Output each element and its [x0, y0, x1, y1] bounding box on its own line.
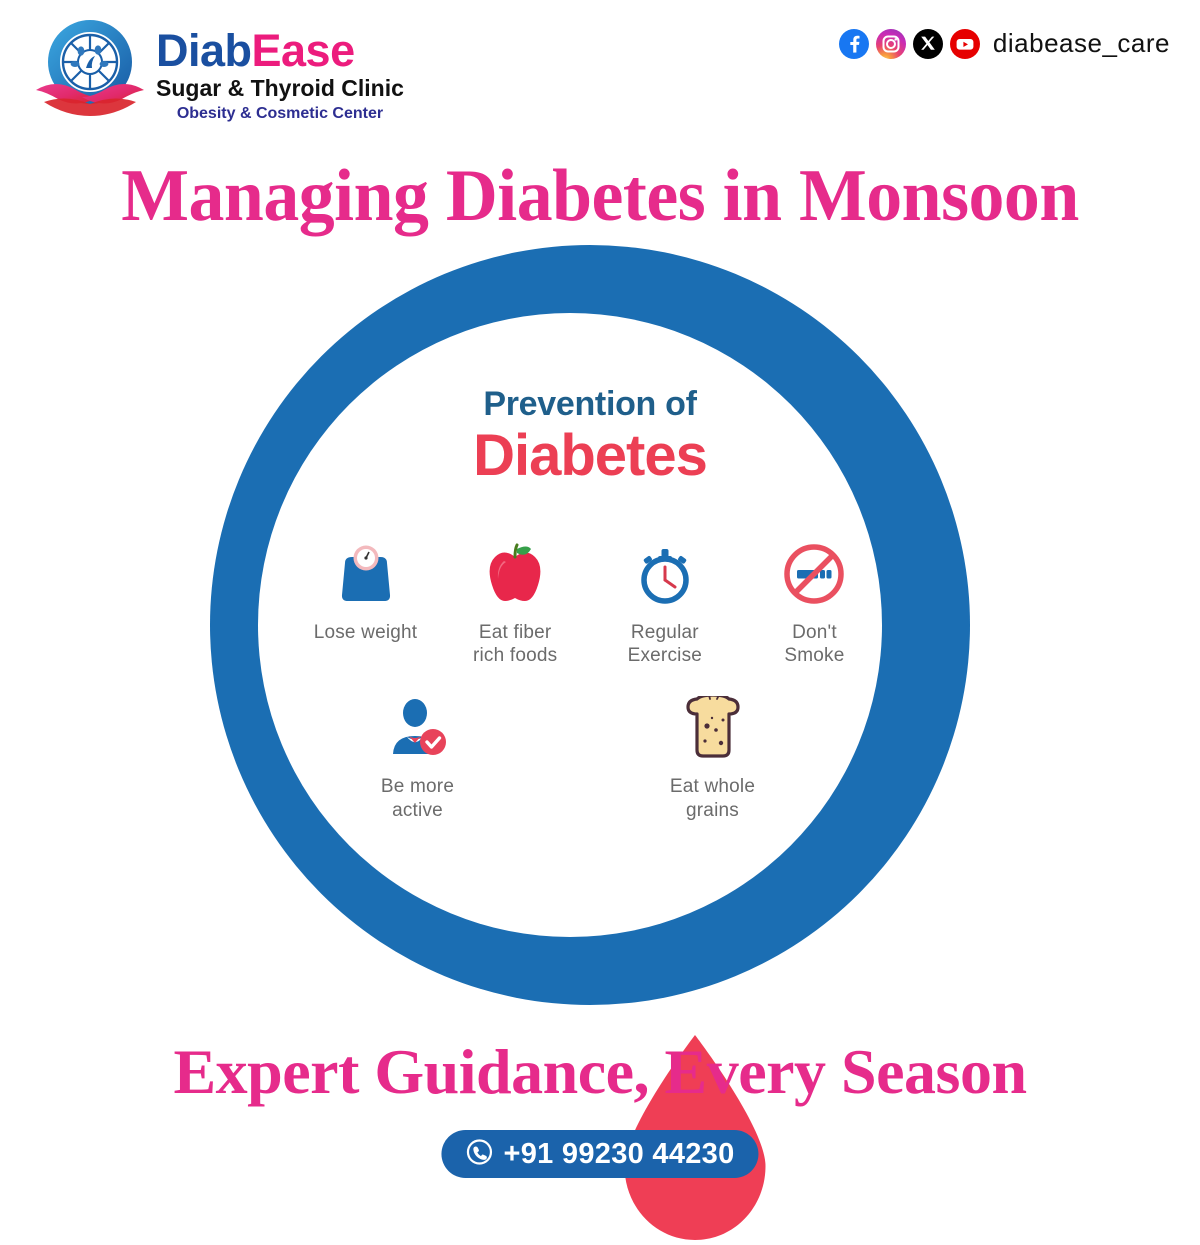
- tip-eat-whole-grains: Eat whole grains: [645, 689, 780, 821]
- phone-cta[interactable]: +91 99230 44230: [441, 1130, 758, 1178]
- brand-subtitle-secondary: Obesity & Cosmetic Center: [156, 106, 404, 122]
- brand-lockup: DiabEase Sugar & Thyroid Clinic Obesity …: [34, 18, 404, 122]
- brand-text: DiabEase Sugar & Thyroid Clinic Obesity …: [156, 18, 404, 122]
- tip-dont-smoke: Don't Smoke: [747, 535, 882, 667]
- youtube-icon[interactable]: [950, 29, 980, 59]
- tip-label: Be more active: [350, 775, 485, 821]
- phone-in-circle-icon: [465, 1138, 493, 1171]
- stopwatch-icon: [597, 535, 732, 613]
- x-twitter-icon[interactable]: [913, 29, 943, 59]
- tip-regular-exercise: Regular Exercise: [597, 535, 732, 667]
- infographic-title-line1: Prevention of: [473, 387, 707, 421]
- apple-icon: [448, 535, 583, 613]
- tip-label: Regular Exercise: [597, 621, 732, 667]
- page-title: Managing Diabetes in Monsoon: [18, 154, 1182, 239]
- page-header: DiabEase Sugar & Thyroid Clinic Obesity …: [0, 0, 1200, 140]
- tips-row-2: Be more active: [290, 689, 890, 821]
- brand-subtitle-primary: Sugar & Thyroid Clinic: [156, 77, 404, 100]
- page-tagline: Expert Guidance, Every Season: [0, 1035, 1200, 1109]
- infographic-content: Prevention of Diabetes Lose weight: [278, 313, 902, 937]
- brand-name-part1: Diab: [156, 25, 252, 76]
- person-check-icon: [350, 689, 485, 767]
- tip-label: Eat whole grains: [645, 775, 780, 821]
- social-handle[interactable]: diabease_care: [993, 28, 1170, 59]
- brand-name: DiabEase: [156, 28, 404, 73]
- bread-slice-icon: [645, 689, 780, 767]
- tips-row-1: Lose weight Eat fiber rich foods: [290, 535, 890, 667]
- phone-number: +91 99230 44230: [503, 1138, 734, 1171]
- brand-name-part2: Ease: [252, 25, 355, 76]
- social-links: diabease_care: [839, 28, 1170, 59]
- facebook-icon[interactable]: [839, 29, 869, 59]
- tip-label: Lose weight: [298, 621, 433, 644]
- infographic-title-line2: Diabetes: [473, 427, 707, 485]
- tip-lose-weight: Lose weight: [298, 535, 433, 667]
- tip-label: Don't Smoke: [747, 621, 882, 667]
- diabease-gauge-hands-logo: [34, 18, 146, 122]
- prevention-infographic: Prevention of Diabetes Lose weight: [190, 245, 990, 1035]
- tip-be-more-active: Be more active: [350, 689, 485, 821]
- tip-label: Eat fiber rich foods: [448, 621, 583, 667]
- weighing-scale-icon: [298, 535, 433, 613]
- infographic-title: Prevention of Diabetes: [473, 387, 707, 485]
- tip-eat-fiber: Eat fiber rich foods: [448, 535, 583, 667]
- instagram-icon[interactable]: [876, 29, 906, 59]
- no-smoking-icon: [747, 535, 882, 613]
